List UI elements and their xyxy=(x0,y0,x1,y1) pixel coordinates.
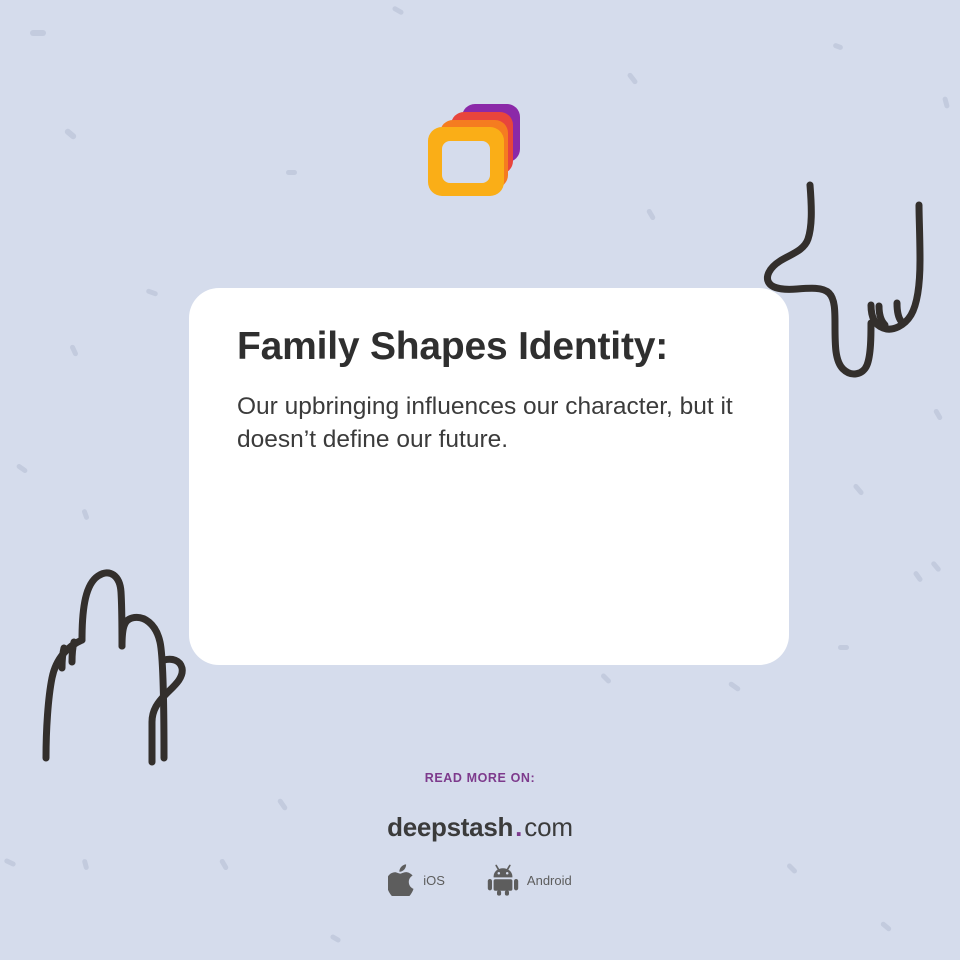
confetti-speck xyxy=(646,208,656,221)
brand-dot: . xyxy=(513,812,524,842)
confetti-speck xyxy=(286,170,297,175)
confetti-speck xyxy=(392,5,405,15)
android-icon xyxy=(487,864,519,896)
confetti-speck xyxy=(852,483,864,496)
card-body-text: Our upbringing influences our character,… xyxy=(237,369,741,457)
store-badge-android[interactable]: Android xyxy=(487,864,572,896)
store-label-ios: iOS xyxy=(423,873,445,888)
confetti-speck xyxy=(64,128,78,141)
confetti-speck xyxy=(880,921,892,933)
read-more-label: READ MORE ON: xyxy=(0,771,960,785)
confetti-speck xyxy=(930,560,942,572)
poster-canvas: Family Shapes Identity: Our upbringing i… xyxy=(0,0,960,960)
apple-icon xyxy=(388,864,415,896)
quote-card: Family Shapes Identity: Our upbringing i… xyxy=(189,288,789,665)
card-title: Family Shapes Identity: xyxy=(237,324,741,369)
pointing-up-hand-icon xyxy=(22,562,207,777)
confetti-speck xyxy=(600,672,612,684)
store-badge-ios[interactable]: iOS xyxy=(388,864,445,896)
confetti-speck xyxy=(838,645,849,650)
deepstash-logo-icon xyxy=(428,104,520,196)
confetti-speck xyxy=(16,463,29,474)
confetti-speck xyxy=(69,344,79,357)
brand-tld: com xyxy=(524,812,573,842)
confetti-speck xyxy=(832,42,843,50)
confetti-speck xyxy=(30,30,46,36)
store-badges: iOS xyxy=(0,864,960,896)
store-label-android: Android xyxy=(527,873,572,888)
confetti-speck xyxy=(728,681,742,693)
confetti-speck xyxy=(329,934,341,944)
confetti-speck xyxy=(81,508,89,520)
confetti-speck xyxy=(933,408,943,421)
confetti-speck xyxy=(942,96,950,109)
confetti-speck xyxy=(913,570,924,583)
confetti-speck xyxy=(277,798,289,812)
confetti-speck xyxy=(627,72,639,85)
brand-name: deepstash xyxy=(387,812,513,842)
brand-wordmark[interactable]: deepstash.com xyxy=(0,812,960,843)
confetti-speck xyxy=(146,288,159,297)
logo-center-hole xyxy=(442,141,490,183)
